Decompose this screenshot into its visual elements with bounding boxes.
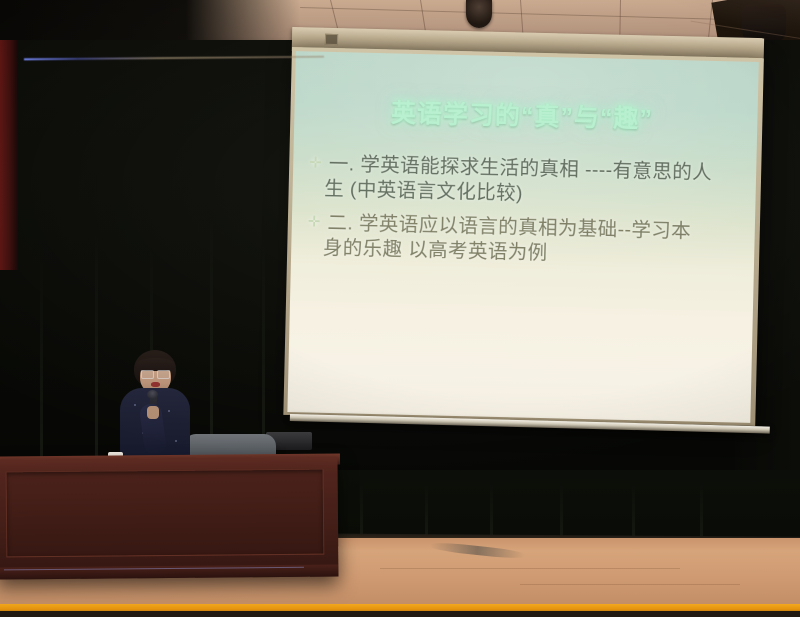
- slide-bullet-1-text: 一. 学英语能探求生活的真相 ----有意思的人 生 (中英语言文化比较): [328, 152, 712, 211]
- red-curtain-sliver: [0, 40, 18, 270]
- bullet-marker-icon: ✛: [308, 210, 321, 230]
- lecture-hall-photo: 英语学习的“真”与“趣” ✛ 一. 学英语能探求生活的真相 ----有意思的人 …: [0, 0, 800, 617]
- podium-base-highlight: [4, 567, 304, 571]
- housing-chip: [325, 34, 338, 45]
- slide-bullet-1: ✛ 一. 学英语能探求生活的真相 ----有意思的人 生 (中英语言文化比较): [308, 151, 738, 211]
- ceiling-speaker-icon: [466, 0, 492, 28]
- podium: [0, 457, 339, 580]
- stage-edge-shadow: [0, 611, 800, 617]
- slide-bullet-2-text: 二. 学英语应以语言的真相为基础--学习本 身的乐趣 以高考英语为例: [327, 211, 692, 269]
- slide-bullet-2: ✛ 二. 学英语应以语言的真相为基础--学习本 身的乐趣 以高考英语为例: [307, 210, 737, 270]
- presentation-slide: 英语学习的“真”与“趣” ✛ 一. 学英语能探求生活的真相 ----有意思的人 …: [287, 51, 758, 423]
- glasses-right-lens-icon: [157, 370, 170, 379]
- presenter-mouth: [151, 382, 160, 387]
- screen-surface: 英语学习的“真”与“趣” ✛ 一. 学英语能探求生活的真相 ----有意思的人 …: [287, 51, 758, 423]
- microphone-head-icon: [147, 390, 158, 399]
- podium-front-panel: [6, 469, 325, 558]
- glasses-left-lens-icon: [141, 370, 154, 379]
- projection-screen: 英语学习的“真”与“趣” ✛ 一. 学英语能探求生活的真相 ----有意思的人 …: [283, 47, 764, 426]
- bullet-marker-icon: ✛: [309, 151, 322, 171]
- presenter-hand: [147, 406, 159, 419]
- slide-title: 英语学习的“真”与“趣”: [304, 91, 740, 137]
